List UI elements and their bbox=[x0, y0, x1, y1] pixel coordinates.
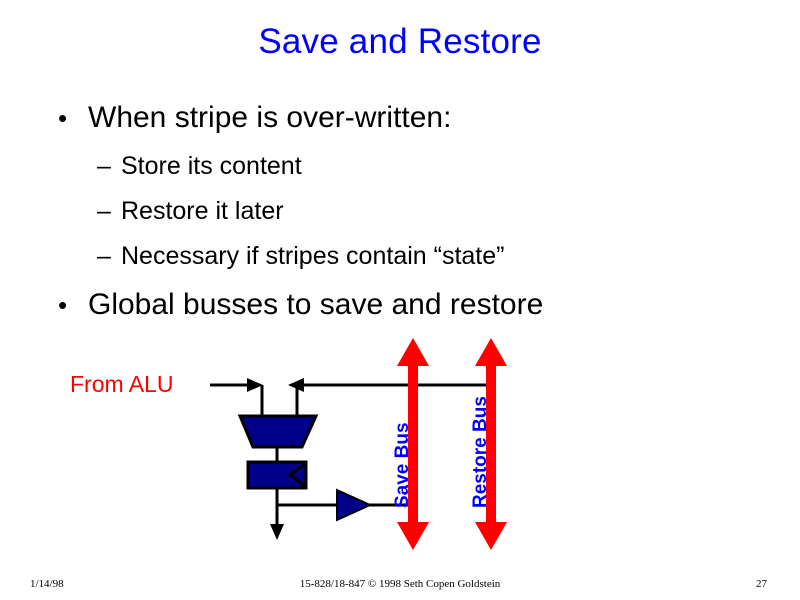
footer-copyright: 15-828/18-847 © 1998 Seth Copen Goldstei… bbox=[0, 578, 800, 590]
tri-state-driver-shape bbox=[337, 490, 370, 520]
multiplexer-shape bbox=[240, 416, 316, 447]
sub-bullet-item-3: – Necessary if stripes contain “state” bbox=[97, 242, 504, 271]
sub-bullet-marker: – bbox=[97, 154, 121, 179]
bullet-text: Global busses to save and restore bbox=[88, 288, 543, 322]
bullet-item-2: • Global busses to save and restore bbox=[58, 288, 543, 322]
sub-bullet-item-2: – Restore it later bbox=[97, 197, 284, 226]
arrowhead-register-output bbox=[270, 524, 284, 540]
footer-page-number: 27 bbox=[756, 578, 767, 590]
sub-bullet-marker: – bbox=[97, 244, 121, 269]
bullet-marker: • bbox=[58, 292, 88, 318]
from-alu-label: From ALU bbox=[70, 371, 174, 398]
restore-bus-label: Restore Bus bbox=[470, 396, 492, 508]
slide: Save and Restore • When stripe is over-w… bbox=[0, 0, 800, 600]
sub-bullet-text: Restore it later bbox=[121, 197, 284, 226]
bullet-marker: • bbox=[58, 105, 88, 131]
sub-bullet-item-1: – Store its content bbox=[97, 152, 302, 181]
save-bus-label: Save Bus bbox=[392, 422, 414, 508]
bullet-item-1: • When stripe is over-written: bbox=[58, 101, 451, 135]
sub-bullet-marker: – bbox=[97, 199, 121, 224]
sub-bullet-text: Store its content bbox=[121, 152, 302, 181]
sub-bullet-text: Necessary if stripes contain “state” bbox=[121, 242, 504, 271]
bullet-text: When stripe is over-written: bbox=[88, 101, 451, 135]
register-shape bbox=[248, 462, 306, 488]
page-title: Save and Restore bbox=[0, 22, 800, 62]
